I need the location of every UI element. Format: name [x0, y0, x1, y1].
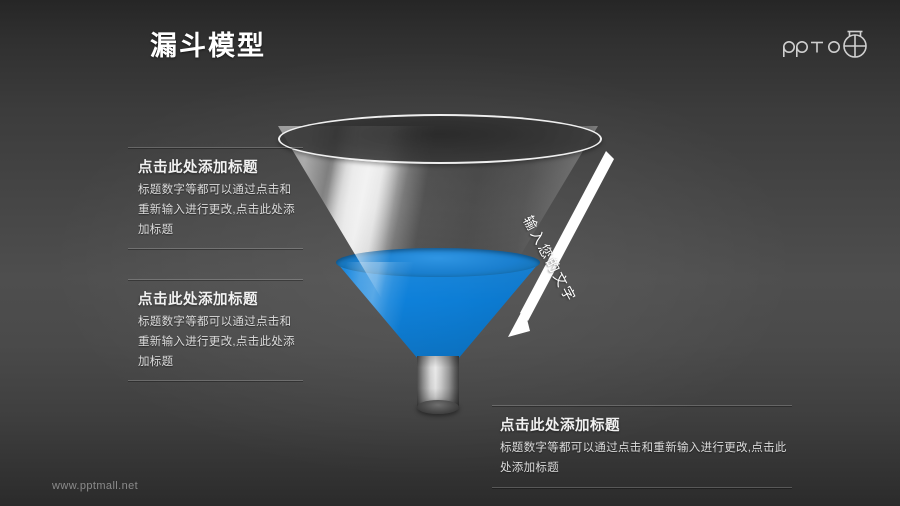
divider-bottom: [128, 248, 303, 249]
block-2-heading: 点击此处添加标题: [128, 280, 303, 313]
block-3-body: 标题数字等都可以通过点击和重新输入进行更改,点击此处添加标题: [492, 439, 792, 487]
text-block-1[interactable]: 点击此处添加标题 标题数字等都可以通过点击和重新输入进行更改,点击此处添加标题: [128, 147, 303, 249]
site-watermark: www.pptmall.net: [52, 480, 138, 492]
text-block-3[interactable]: 点击此处添加标题 标题数字等都可以通过点击和重新输入进行更改,点击此处添加标题: [492, 405, 792, 488]
divider-bottom: [128, 380, 303, 381]
block-2-body: 标题数字等都可以通过点击和重新输入进行更改,点击此处添加标题: [128, 313, 303, 380]
funnel-spout-opening: [417, 400, 459, 414]
slide-canvas: 漏斗模型: [0, 0, 900, 506]
divider-bottom: [492, 487, 792, 488]
flow-direction-arrow: [480, 135, 640, 360]
block-1-body: 标题数字等都可以通过点击和重新输入进行更改,点击此处添加标题: [128, 181, 303, 248]
text-block-2[interactable]: 点击此处添加标题 标题数字等都可以通过点击和重新输入进行更改,点击此处添加标题: [128, 279, 303, 381]
block-3-heading: 点击此处添加标题: [492, 406, 792, 439]
page-title: 漏斗模型: [150, 30, 266, 62]
pptmall-logo[interactable]: [778, 26, 878, 62]
block-1-heading: 点击此处添加标题: [128, 148, 303, 181]
